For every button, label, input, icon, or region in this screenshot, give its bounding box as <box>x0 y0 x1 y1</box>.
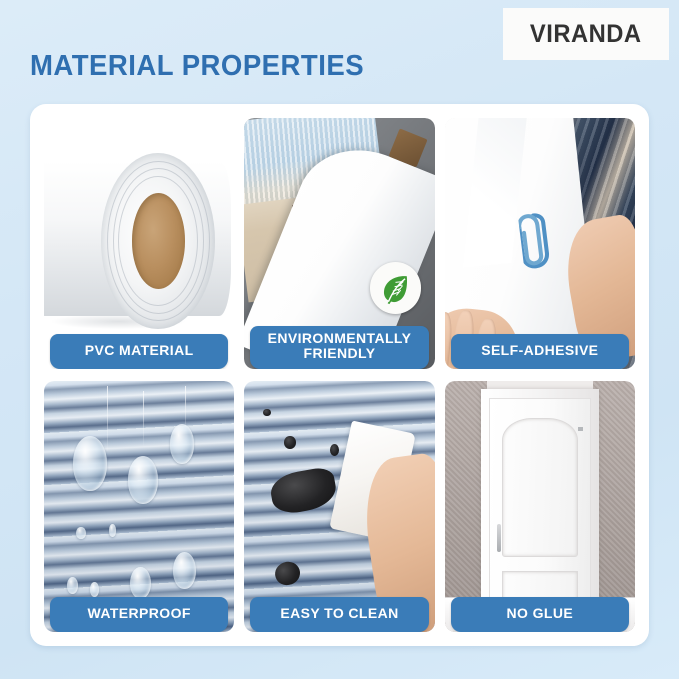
brand-logo: VIRANDA <box>503 8 669 60</box>
self-adhesive-image <box>445 118 635 369</box>
feature-label-no-glue: NO GLUE <box>451 597 629 632</box>
door-handle <box>497 524 501 552</box>
water-droplet <box>128 456 158 504</box>
feature-label-easy-to-clean: EASY TO CLEAN <box>250 597 428 632</box>
feature-label-pvc-material: PVC MATERIAL <box>50 334 228 369</box>
water-streak <box>143 391 144 446</box>
water-droplet <box>76 527 86 540</box>
feature-card-waterproof[interactable]: WATERPROOF <box>44 381 234 632</box>
pvc-roll-image <box>44 118 234 369</box>
features-grid: PVC MATERIAL ENVIRONMENTALL <box>44 118 635 632</box>
feature-label-environmentally-friendly: ENVIRONMENTALLY FRIENDLY <box>250 326 428 369</box>
feature-label-line-1: ENVIRONMENTALLY <box>254 331 424 347</box>
stain-mark <box>284 436 295 449</box>
stain-mark <box>272 558 303 587</box>
waterproof-image <box>44 381 234 632</box>
feature-card-easy-to-clean[interactable]: EASY TO CLEAN <box>244 381 434 632</box>
door-hinge <box>578 427 583 430</box>
feature-card-no-glue[interactable]: NO GLUE <box>445 381 635 632</box>
door-panel-top <box>502 418 578 557</box>
page-header: MATERIAL PROPERTIES VIRANDA <box>0 0 679 104</box>
no-glue-image <box>445 381 635 632</box>
water-droplet <box>130 567 151 600</box>
leaf-icon <box>370 262 421 313</box>
feature-card-pvc-material[interactable]: PVC MATERIAL <box>44 118 234 369</box>
water-droplet <box>67 577 78 595</box>
stain-mark <box>330 444 340 457</box>
water-droplet <box>73 436 107 491</box>
feature-label-line-2: FRIENDLY <box>254 346 424 362</box>
feature-card-self-adhesive[interactable]: SELF-ADHESIVE <box>445 118 635 369</box>
roll-cardboard-core <box>132 193 185 288</box>
page-title: MATERIAL PROPERTIES <box>30 50 364 83</box>
wall-right <box>593 381 635 632</box>
water-droplet <box>170 424 195 464</box>
water-droplet <box>90 582 100 597</box>
features-panel: PVC MATERIAL ENVIRONMENTALL <box>30 104 649 646</box>
water-streak <box>107 386 108 451</box>
stain-mark <box>263 409 271 417</box>
stain-mark <box>268 466 339 517</box>
feature-card-environmentally-friendly[interactable]: ENVIRONMENTALLY FRIENDLY <box>244 118 434 369</box>
brand-name: VIRANDA <box>530 20 642 49</box>
door-frame <box>481 389 599 632</box>
feature-label-self-adhesive: SELF-ADHESIVE <box>451 334 629 369</box>
feature-label-waterproof: WATERPROOF <box>50 597 228 632</box>
water-droplet <box>173 552 196 590</box>
water-droplet <box>109 524 117 537</box>
easy-to-clean-image <box>244 381 434 632</box>
